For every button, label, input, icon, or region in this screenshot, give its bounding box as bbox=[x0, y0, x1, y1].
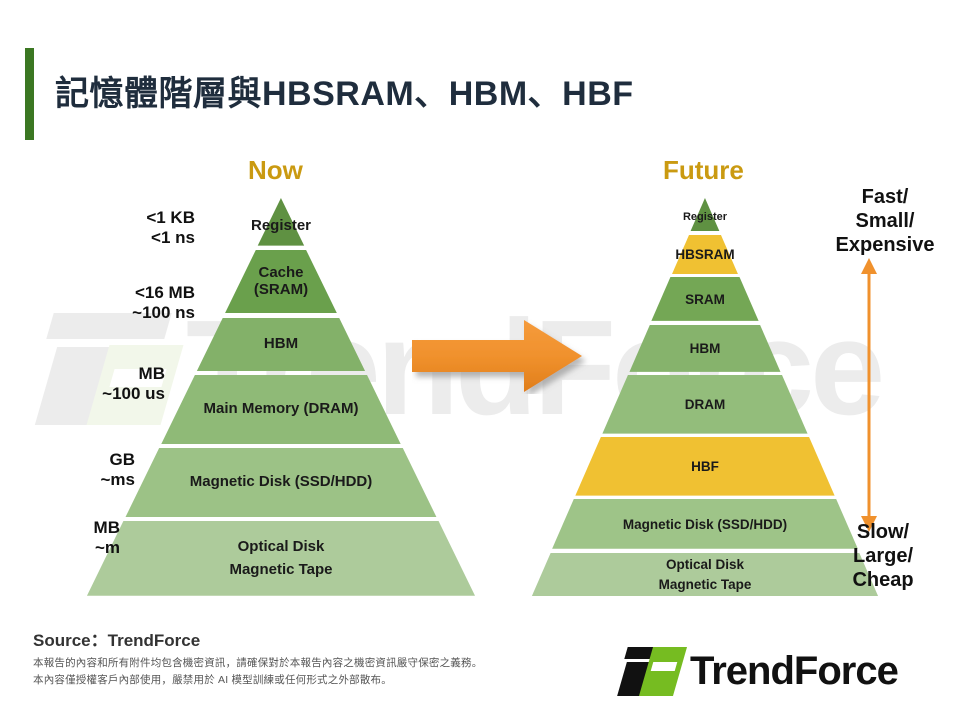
side-note-capacity: <16 MB bbox=[30, 283, 195, 303]
pyramid-layer-label-line: Cache bbox=[254, 265, 308, 282]
trendforce-logo: TrendForce bbox=[620, 640, 940, 702]
logo-text: TrendForce bbox=[690, 649, 898, 694]
pyramid-layer-label: HBSRAM bbox=[675, 247, 734, 262]
caption-line: Cheap bbox=[828, 568, 938, 592]
pyramid-layer-label-line: Optical Disk bbox=[659, 557, 752, 572]
side-note-latency: ~ms bbox=[10, 470, 135, 490]
pyramid-layer-label: SRAM bbox=[685, 292, 725, 307]
pyramid-layer-label: Magnetic Disk (SSD/HDD) bbox=[623, 517, 787, 532]
pyramid-layer-label-line: Magnetic Tape bbox=[229, 562, 332, 579]
pyramid-layer-label-line: DRAM bbox=[685, 397, 726, 412]
pyramid-layer-label: HBM bbox=[264, 336, 298, 353]
side-note-latency: ~100 us bbox=[20, 384, 165, 404]
pyramid-layer-label-line: (SRAM) bbox=[254, 282, 308, 299]
side-note-hbm: MB ~100 us bbox=[20, 364, 165, 404]
pyramid-layer-label-line: Magnetic Disk (SSD/HDD) bbox=[190, 474, 373, 491]
trendforce-mark-icon bbox=[620, 645, 686, 697]
pyramid-layer: HBF bbox=[530, 437, 880, 496]
side-note-latency: ~100 ns bbox=[30, 303, 195, 323]
pyramid-layer-label-line: Magnetic Tape bbox=[659, 577, 752, 592]
pyramid-layer-label-line: Main Memory (DRAM) bbox=[203, 401, 358, 418]
pyramid-layer: Optical DiskMagnetic Tape bbox=[85, 521, 477, 596]
caption-line: Slow/ bbox=[828, 520, 938, 544]
pyramid-layer-label: Cache(SRAM) bbox=[254, 265, 308, 299]
caption-line: Large/ bbox=[828, 544, 938, 568]
pyramid-layer-label: Main Memory (DRAM) bbox=[203, 401, 358, 418]
pyramid-layer-label: Optical DiskMagnetic Tape bbox=[229, 533, 332, 585]
title-accent-bar bbox=[25, 48, 34, 140]
pyramid-layer-label-line: Optical Disk bbox=[229, 539, 332, 556]
pyramid-layer: Magnetic Disk (SSD/HDD) bbox=[85, 448, 477, 517]
side-note-capacity: <1 KB bbox=[50, 208, 195, 228]
pyramid-layer-label: Register bbox=[683, 211, 727, 223]
pyramid-layer-label-line: Magnetic Disk (SSD/HDD) bbox=[623, 517, 787, 532]
pyramid-layer-label: Register bbox=[251, 218, 311, 235]
disclaimer-line-2: 本內容僅授權客戶內部使用，嚴禁用於 AI 模型訓練或任何形式之外部散布。 bbox=[33, 672, 392, 687]
pyramid-layer-label-line: HBM bbox=[264, 336, 298, 353]
axis-caption-bottom: Slow/Large/Cheap bbox=[828, 520, 938, 592]
axis-caption-top: Fast/Small/Expensive bbox=[820, 185, 950, 257]
pyramid-layer-label-line: HBF bbox=[691, 459, 719, 474]
pyramid-layer-label: DRAM bbox=[685, 397, 726, 412]
side-note-cache: <16 MB ~100 ns bbox=[30, 283, 195, 323]
side-note-latency: <1 ns bbox=[50, 228, 195, 248]
pyramid-layer-label: HBF bbox=[691, 459, 719, 474]
column-header-future: Future bbox=[663, 155, 744, 186]
source-label: Source：TrendForce bbox=[33, 626, 200, 651]
pyramid-layer-label: Optical DiskMagnetic Tape bbox=[659, 553, 752, 595]
pyramid-layer-label-line: HBM bbox=[690, 341, 721, 356]
pyramid-layer-label-line: SRAM bbox=[685, 292, 725, 307]
pyramid-layer-label: HBM bbox=[690, 341, 721, 356]
transition-arrow-icon bbox=[412, 318, 590, 394]
page-title: 記憶體階層與HBSRAM、HBM、HBF bbox=[55, 66, 634, 115]
caption-line: Small/ bbox=[820, 209, 950, 233]
side-note-register: <1 KB <1 ns bbox=[50, 208, 195, 248]
side-note-capacity: MB bbox=[20, 364, 165, 384]
pyramid-layer-label-line: Register bbox=[251, 218, 311, 235]
disclaimer-line-1: 本報告的內容和所有附件均包含機密資訊，請確保對於本報告內容之機密資訊嚴守保密之義… bbox=[33, 655, 482, 670]
side-note-disk: MB ~m bbox=[0, 518, 120, 558]
side-note-dram: GB ~ms bbox=[10, 450, 135, 490]
pyramid-layer: SRAM bbox=[530, 277, 880, 321]
pyramid-layer-label-line: Register bbox=[683, 211, 727, 223]
vertical-scale-arrow-icon bbox=[856, 258, 882, 532]
caption-line: Fast/ bbox=[820, 185, 950, 209]
side-note-latency: ~m bbox=[0, 538, 120, 558]
pyramid-layer-label: Magnetic Disk (SSD/HDD) bbox=[190, 474, 373, 491]
column-header-now: Now bbox=[248, 155, 303, 186]
side-note-capacity: MB bbox=[0, 518, 120, 538]
caption-line: Expensive bbox=[820, 233, 950, 257]
side-note-capacity: GB bbox=[10, 450, 135, 470]
slide-canvas: TrendForce 記憶體階層與HBSRAM、HBM、HBF Now Futu… bbox=[0, 0, 960, 720]
pyramid-layer-label-line: HBSRAM bbox=[675, 247, 734, 262]
